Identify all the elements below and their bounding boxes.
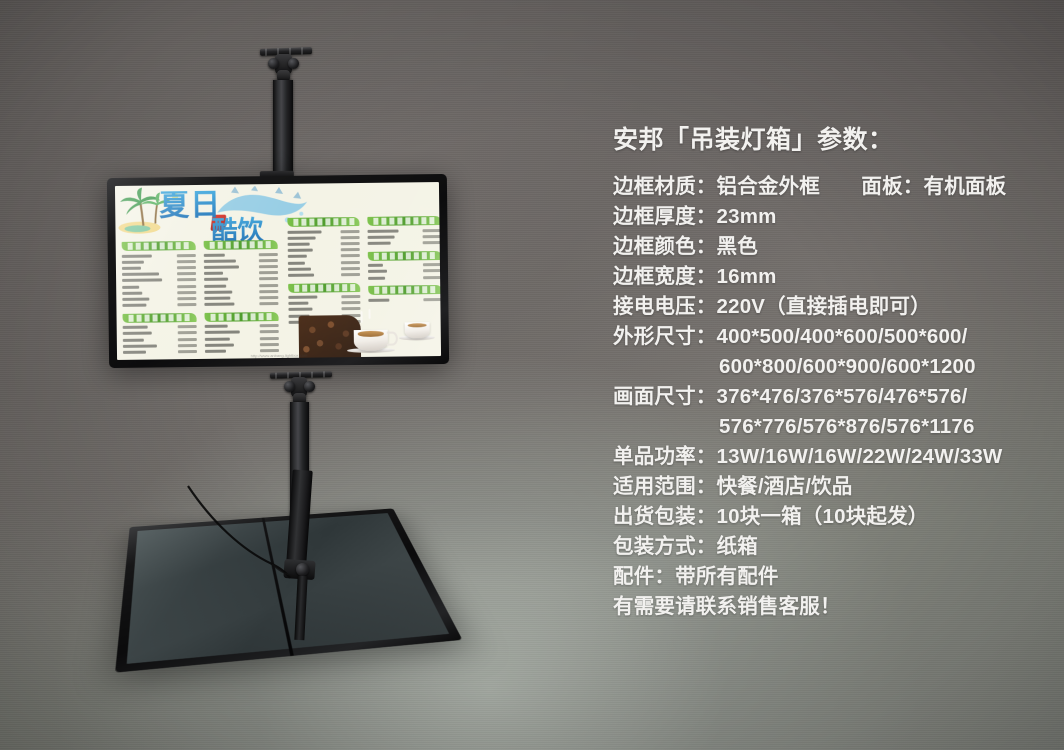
- menu-item-price: [178, 325, 197, 328]
- pivot-knob-lower-right: [304, 381, 315, 392]
- menu-item-price: [177, 285, 196, 288]
- menu-item-name: [288, 236, 316, 239]
- menu-item-price: [259, 284, 278, 287]
- spec-line-outer-size-cont: 600*800/600*900/600*1200: [613, 352, 1043, 382]
- menu-section-header: [204, 240, 278, 250]
- spec-lines-container: 边框材质：铝合金外框 面板：有机面板边框厚度：23mm边框颜色：黑色边框宽度：1…: [613, 172, 1043, 622]
- menu-item-price: [177, 303, 196, 306]
- menu-item-price: [260, 343, 279, 346]
- menu-item-price: [423, 276, 441, 279]
- menu-item-name: [204, 296, 230, 299]
- cup-handle: [387, 332, 398, 346]
- menu-item-price: [259, 265, 278, 268]
- menu-item-name: [367, 229, 398, 232]
- menu-item-price: [259, 302, 278, 305]
- menu-item-name: [205, 337, 230, 340]
- menu-item-price: [423, 269, 441, 272]
- menu-section-header: [205, 312, 279, 322]
- menu-item-name: [288, 255, 307, 258]
- spec-line-frame-width: 边框宽度：16mm: [613, 262, 1043, 292]
- spec-title: 安邦「吊装灯箱」参数：: [613, 126, 1043, 156]
- menu-item-name: [204, 290, 232, 293]
- menu-item-price: [341, 230, 360, 233]
- spec-line-picture-size-cont: 576*776/576*876/576*1176: [613, 412, 1043, 442]
- menu-item-name: [288, 273, 314, 276]
- menu-item-price: [177, 297, 196, 300]
- steam-1: [360, 311, 362, 323]
- menu-item-price: [259, 277, 278, 280]
- menu-item-name: [368, 276, 385, 279]
- menu-item-row: [123, 348, 197, 355]
- menu-item-price: [341, 248, 360, 251]
- menu-item-name: [122, 267, 141, 270]
- spec-line-contact: 有需要请联系销售客服！: [613, 592, 1043, 622]
- menu-section-header: [288, 282, 360, 292]
- menu-item-name: [368, 264, 383, 267]
- menu-item-name: [122, 304, 146, 307]
- menu-item-name: [204, 272, 223, 275]
- menu-item-name: [122, 279, 162, 282]
- menu-item-price: [177, 291, 196, 294]
- menu-item-price: [178, 344, 197, 347]
- menu-column-2: [204, 240, 279, 355]
- menu-item-price: [178, 350, 197, 353]
- menu-item-name: [204, 278, 228, 281]
- menu-item-price: [178, 338, 197, 341]
- spec-line-shipping-package: 出货包装：10块一箱（10块起发）: [613, 502, 1043, 532]
- menu-item-name: [205, 331, 240, 334]
- menu-item-name: [205, 343, 234, 346]
- coffee-photo: [298, 294, 441, 358]
- spec-line-frame-color: 边框颜色：黑色: [613, 232, 1043, 262]
- menu-item-name: [122, 260, 144, 263]
- menu-item-name: [205, 350, 226, 353]
- menu-item-price: [422, 229, 441, 232]
- panel-bracket-knob: [296, 563, 309, 576]
- menu-item-price: [341, 236, 360, 239]
- menu-item-name: [123, 326, 148, 329]
- menu-item-price: [423, 235, 441, 238]
- menu-section-header: [122, 241, 196, 251]
- spec-line-picture-size: 画面尺寸：376*476/376*576/476*576/: [613, 382, 1043, 412]
- product-photo-stage: 夏日 酷饮 http://www.anba: [0, 0, 1064, 750]
- menu-item-price: [177, 278, 196, 281]
- pivot-knob-upper-left: [268, 58, 279, 69]
- menu-item-name: [205, 325, 228, 328]
- menu-item-name: [204, 259, 236, 262]
- spec-line-outer-size: 外形尺寸：400*500/400*600/500*600/: [613, 322, 1043, 352]
- coffee-cup-large: [354, 330, 388, 351]
- menu-item-price: [259, 271, 278, 274]
- menu-item-name: [123, 351, 146, 354]
- menu-item-price: [341, 267, 360, 270]
- menu-item-price: [178, 331, 197, 334]
- menu-item-price: [423, 241, 441, 244]
- spec-line-accessories: 配件：带所有配件: [613, 562, 1043, 592]
- menu-item-name: [368, 242, 391, 245]
- menu-item-name: [123, 344, 157, 347]
- spec-text-block: 安邦「吊装灯箱」参数： 边框材质：铝合金外框 面板：有机面板边框厚度：23mm边…: [613, 126, 1043, 622]
- menu-item-price: [260, 330, 279, 333]
- menu-item-price: [177, 254, 196, 257]
- lightbox-menu-face: 夏日 酷饮 http://www.anba: [115, 182, 441, 360]
- menu-item-name: [122, 285, 139, 288]
- spec-line-applicable-scope: 适用范围：快餐/酒店/饮品: [613, 472, 1043, 502]
- menu-item-rows: [368, 262, 441, 281]
- menu-item-name: [122, 291, 142, 294]
- menu-item-rows: [367, 227, 441, 246]
- spec-line-frame-material: 边框材质：铝合金外框 面板：有机面板: [613, 172, 1043, 202]
- menu-column-4: [367, 216, 441, 303]
- menu-item-name: [204, 303, 234, 306]
- menu-item-name: [204, 253, 225, 256]
- menu-item-price: [259, 253, 278, 256]
- menu-item-name: [204, 284, 226, 287]
- menu-item-name: [288, 230, 322, 233]
- menu-section-header: [367, 216, 441, 226]
- menu-item-name: [368, 235, 395, 238]
- spec-line-power: 单品功率：13W/16W/16W/22W/24W/33W: [613, 442, 1043, 472]
- spec-line-voltage: 接电电压：220V（直接插电即可）: [613, 292, 1043, 322]
- menu-item-price: [177, 272, 196, 275]
- menu-item-price: [259, 259, 278, 262]
- menu-item-price: [341, 242, 360, 245]
- menu-item-name: [288, 267, 311, 270]
- menu-item-name: [288, 261, 305, 264]
- menu-item-price: [259, 296, 278, 299]
- menu-item-price: [177, 266, 196, 269]
- menu-section-header: [123, 313, 197, 323]
- menu-item-rows: [205, 323, 279, 355]
- menu-item-price: [260, 337, 279, 340]
- menu-item-name: [288, 249, 313, 252]
- coffee-cup-small: [405, 322, 430, 338]
- menu-item-price: [341, 254, 360, 257]
- menu-item-rows: [287, 228, 360, 278]
- menu-artwork: 夏日 酷饮 http://www.anba: [115, 182, 441, 360]
- lit-menu-lightbox: 夏日 酷饮 http://www.anba: [107, 174, 449, 368]
- menu-item-price: [341, 273, 360, 276]
- menu-item-rows: [123, 324, 197, 356]
- menu-section-header: [368, 251, 441, 261]
- menu-item-name: [122, 297, 149, 300]
- ceiling-mount-upper: [250, 48, 342, 188]
- menu-item-price: [259, 290, 278, 293]
- menu-item-price: [341, 261, 360, 264]
- menu-column-1: [122, 241, 197, 356]
- menu-item-price: [423, 263, 441, 266]
- menu-item-name: [204, 265, 239, 268]
- pivot-knob-upper-right: [288, 58, 299, 69]
- menu-section-header: [287, 217, 359, 227]
- menu-item-price: [260, 324, 279, 327]
- steam-2: [368, 309, 370, 319]
- menu-watermark-url: http://www.anbang-lightbox.com: [251, 353, 308, 359]
- menu-item-rows: [122, 252, 197, 309]
- mount-pole-upper: [273, 80, 293, 184]
- menu-item-name: [122, 273, 159, 276]
- menu-item-name: [288, 243, 310, 246]
- menu-item-name: [123, 332, 152, 335]
- menu-item-price: [177, 260, 196, 263]
- menu-item-rows: [204, 251, 279, 308]
- menu-item-name: [368, 270, 387, 273]
- spec-line-frame-thickness: 边框厚度：23mm: [613, 202, 1043, 232]
- menu-item-price: [260, 349, 279, 352]
- menu-item-name: [123, 338, 144, 341]
- spec-line-packing-method: 包装方式：纸箱: [613, 532, 1043, 562]
- pivot-knob-lower-left: [284, 381, 295, 392]
- menu-item-name: [122, 254, 152, 257]
